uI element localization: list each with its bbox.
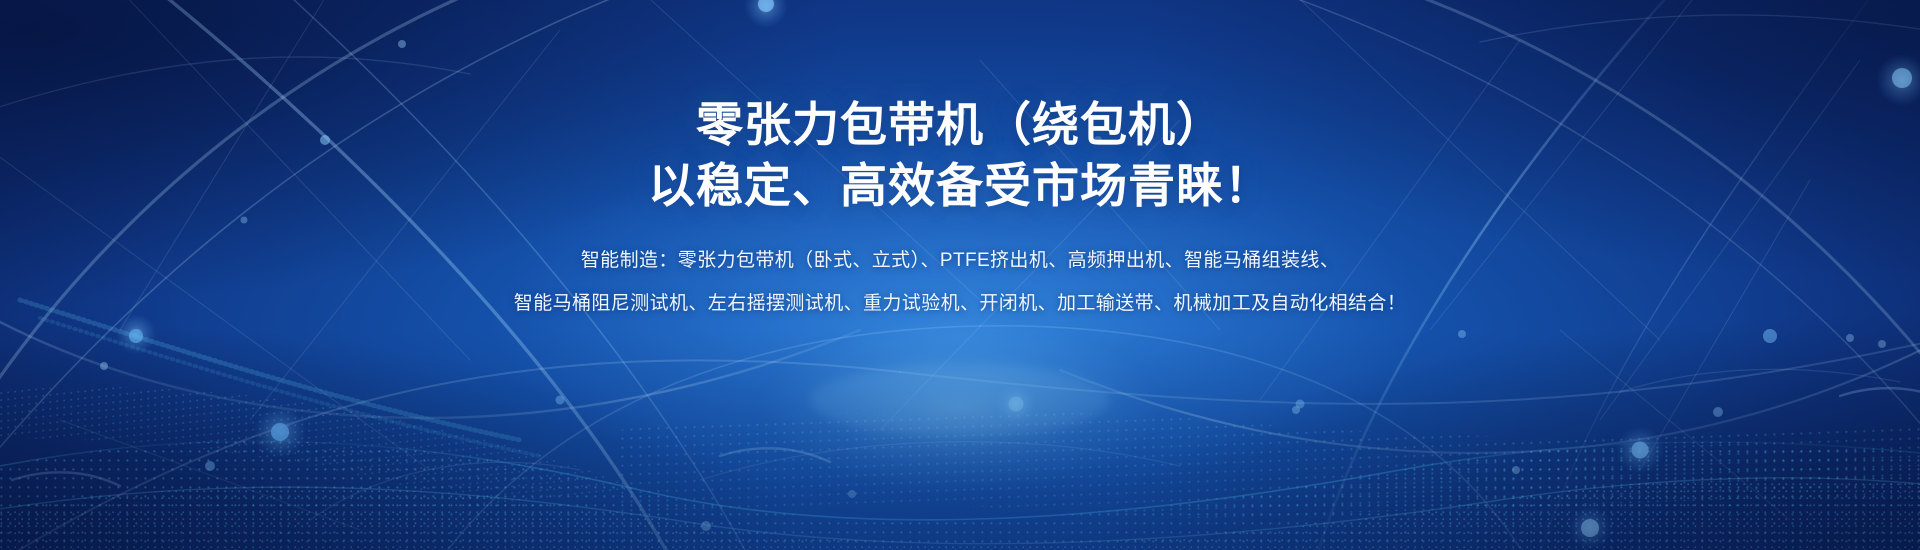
headline-line-1: 零张力包带机（绕包机） <box>696 96 1224 153</box>
hero-banner: 零张力包带机（绕包机） 以稳定、高效备受市场青睐！ 智能制造：零张力包带机（卧式… <box>0 0 1920 550</box>
headline-line-2: 以稳定、高效备受市场青睐！ <box>648 157 1272 214</box>
subtitle-line-1: 智能制造：零张力包带机（卧式、立式）、PTFE挤出机、高频押出机、智能马桶组装线… <box>581 248 1339 274</box>
subtitle-line-2: 智能马桶阻尼测试机、左右摇摆测试机、重力试验机、开闭机、加工输送带、机械加工及自… <box>514 291 1406 317</box>
banner-content: 零张力包带机（绕包机） 以稳定、高效备受市场青睐！ 智能制造：零张力包带机（卧式… <box>0 0 1920 550</box>
